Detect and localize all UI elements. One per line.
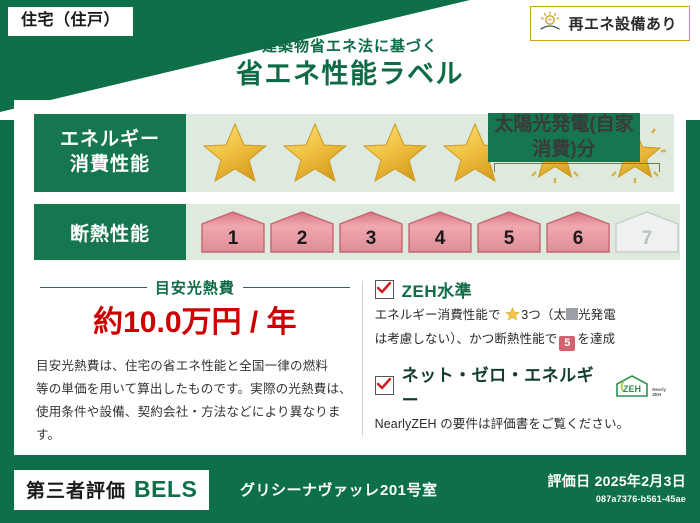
nearly-zeh-logo-text: Nearly ZEH (652, 388, 666, 398)
bels-jp-label: 第三者評価 (26, 476, 126, 503)
bels-certification-box: 第三者評価 BELS (14, 470, 209, 510)
utility-cost-section: 目安光熱費 約10.0万円 / 年 目安光熱費は、住宅の省エネ性能と全国一律の燃… (34, 275, 356, 443)
zeh-desc-line2-text-2: を達成 (577, 332, 615, 346)
house-icon-level-3: 3 (338, 210, 404, 254)
utility-cost-amount: 約10.0万円 / 年 (34, 306, 356, 339)
zeh-standard-desc-line-2: は考慮しない）、かつ断熱性能で5を達成 (375, 329, 666, 351)
house-icon-level-6: 6 (545, 210, 611, 254)
house-icon-level-1: 1 (200, 210, 266, 254)
utility-cost-label: 目安光熱費 (155, 277, 235, 298)
star-icon (356, 114, 434, 192)
energy-performance-row: エネルギー 消費性能 (34, 114, 666, 192)
content-panel: エネルギー 消費性能 (14, 100, 686, 455)
insulation-performance-body: 1 2 3 (186, 204, 680, 260)
net-zero-title: ネット・ゼロ・エネルギー (402, 361, 603, 411)
net-zero-header: ネット・ゼロ・エネルギー ZEH Nearly ZEH (375, 361, 666, 411)
utility-cost-note-line-1: 目安光熱費は、住宅の省エネ性能と全国一律の燃料 (36, 355, 354, 378)
energy-performance-label: 住宅（住戸） 再エネ設備あり 建築物省エネ法に基づく 省エネ性能ラベル (0, 0, 700, 523)
svg-text:ZEH: ZEH (623, 384, 641, 394)
section-divider (362, 281, 363, 437)
star-icon (436, 114, 514, 192)
utility-cost-heading: 目安光熱費 (40, 277, 350, 298)
zeh-standard-block: ZEH水準 エネルギー消費性能で 3つ（太光発電 は考慮し (375, 277, 666, 351)
bels-en-label: BELS (134, 476, 197, 503)
insulation-level-number: 3 (338, 228, 404, 250)
house-icon-level-2: 2 (269, 210, 335, 254)
label-header: 建築物省エネ法に基づく 省エネ性能ラベル (0, 38, 700, 92)
house-icon-level-5: 5 (476, 210, 542, 254)
zeh-standard-header: ZEH水準 (375, 277, 666, 302)
insulation-performance-caption: 断熱性能 (34, 204, 186, 260)
housing-type-tag: 住宅（住戸） (7, 6, 134, 37)
zeh-standard-desc-line-1: エネルギー消費性能で 3つ（太光発電 (375, 305, 666, 329)
net-zero-checkbox[interactable] (375, 376, 394, 395)
zeh-desc-text-1: エネルギー消費性能で (375, 308, 501, 322)
insulation-level-number: 4 (407, 228, 473, 250)
utility-cost-note-line-3: 使用条件や設備、契約会社・方法などにより異なります。 (36, 401, 354, 447)
insulation-performance-row: 断熱性能 1 (34, 204, 666, 260)
energy-performance-caption: エネルギー 消費性能 (34, 114, 186, 192)
zeh-standard-title: ZEH水準 (402, 277, 473, 302)
page-title: 省エネ性能ラベル (0, 58, 700, 92)
check-icon (377, 377, 391, 395)
zeh-house-logo-icon: ZEH Nearly ZEH (614, 374, 666, 398)
insulation-level-number: 6 (545, 228, 611, 250)
label-footer: 第三者評価 BELS グリシーナヴァッレ 201号室 評価日 2025年2月3日… (0, 461, 700, 523)
zeh-standard-checkbox[interactable] (375, 280, 394, 299)
zeh-desc-text-3: 光発電 (578, 308, 616, 322)
lower-section: 目安光熱費 約10.0万円 / 年 目安光熱費は、住宅の省エネ性能と全国一律の燃… (34, 275, 666, 443)
insulation-caption-label: 断熱性能 (70, 219, 150, 246)
evaluation-id: 087a7376-b561-45ae (547, 494, 686, 504)
evaluation-info: 評価日 2025年2月3日 087a7376-b561-45ae (547, 471, 686, 504)
star-icon (505, 307, 520, 329)
star-icon (276, 114, 354, 192)
energy-performance-body: 太陽光発電(自家消費)分 (186, 114, 674, 192)
utility-cost-note: 目安光熱費は、住宅の省エネ性能と全国一律の燃料 等の単価を用いて算出したものです… (34, 355, 356, 448)
zeh-desc-text-2: 3つ（太 (521, 308, 566, 322)
insulation-level-badge-icon: 5 (559, 336, 575, 351)
heading-rule-right (243, 287, 350, 288)
renewable-equipment-badge: 再エネ設備あり (530, 6, 690, 41)
house-icon-level-4: 4 (407, 210, 473, 254)
energy-caption-line1: エネルギー (60, 128, 160, 153)
net-zero-description: NearlyZEH の要件は評価書をご覧ください。 (375, 414, 666, 436)
check-icon (377, 281, 391, 299)
house-icon-level-7: 7 (614, 210, 680, 254)
housing-type-label: 住宅（住戸） (21, 12, 120, 29)
renewable-badge-label: 再エネ設備あり (568, 13, 677, 34)
zeh-section: ZEH水準 エネルギー消費性能で 3つ（太光発電 は考慮し (375, 275, 666, 443)
unit-number: 201号室 (380, 479, 438, 500)
star-icon-solar (516, 114, 594, 192)
net-zero-energy-block: ネット・ゼロ・エネルギー ZEH Nearly ZEH (375, 361, 666, 436)
insulation-level-number: 7 (614, 228, 680, 250)
sun-icon (539, 11, 561, 36)
insulation-level-scale: 1 2 3 (186, 210, 680, 254)
insulation-level-number: 5 (476, 228, 542, 250)
evaluation-date: 評価日 2025年2月3日 (547, 471, 686, 491)
star-rating: 太陽光発電(自家消費)分 (186, 114, 674, 192)
zeh-standard-description: エネルギー消費性能で 3つ（太光発電 は考慮しない）、かつ断熱性能で5を達成 (375, 305, 666, 351)
redacted-block-icon (566, 308, 578, 320)
zeh-desc-line2-text-1: は考慮しない）、かつ断熱性能で (375, 332, 558, 346)
nearly-zeh-line-2: ZEH (652, 392, 661, 397)
star-icon (196, 114, 274, 192)
insulation-level-number: 2 (269, 228, 335, 250)
utility-cost-note-line-2: 等の単価を用いて算出したものです。実際の光熱費は、 (36, 378, 354, 401)
building-name: グリシーナヴァッレ (240, 479, 380, 500)
heading-rule-left (40, 287, 147, 288)
energy-caption-line2: 消費性能 (70, 153, 150, 178)
insulation-level-number: 1 (200, 228, 266, 250)
star-icon-solar (596, 114, 674, 192)
